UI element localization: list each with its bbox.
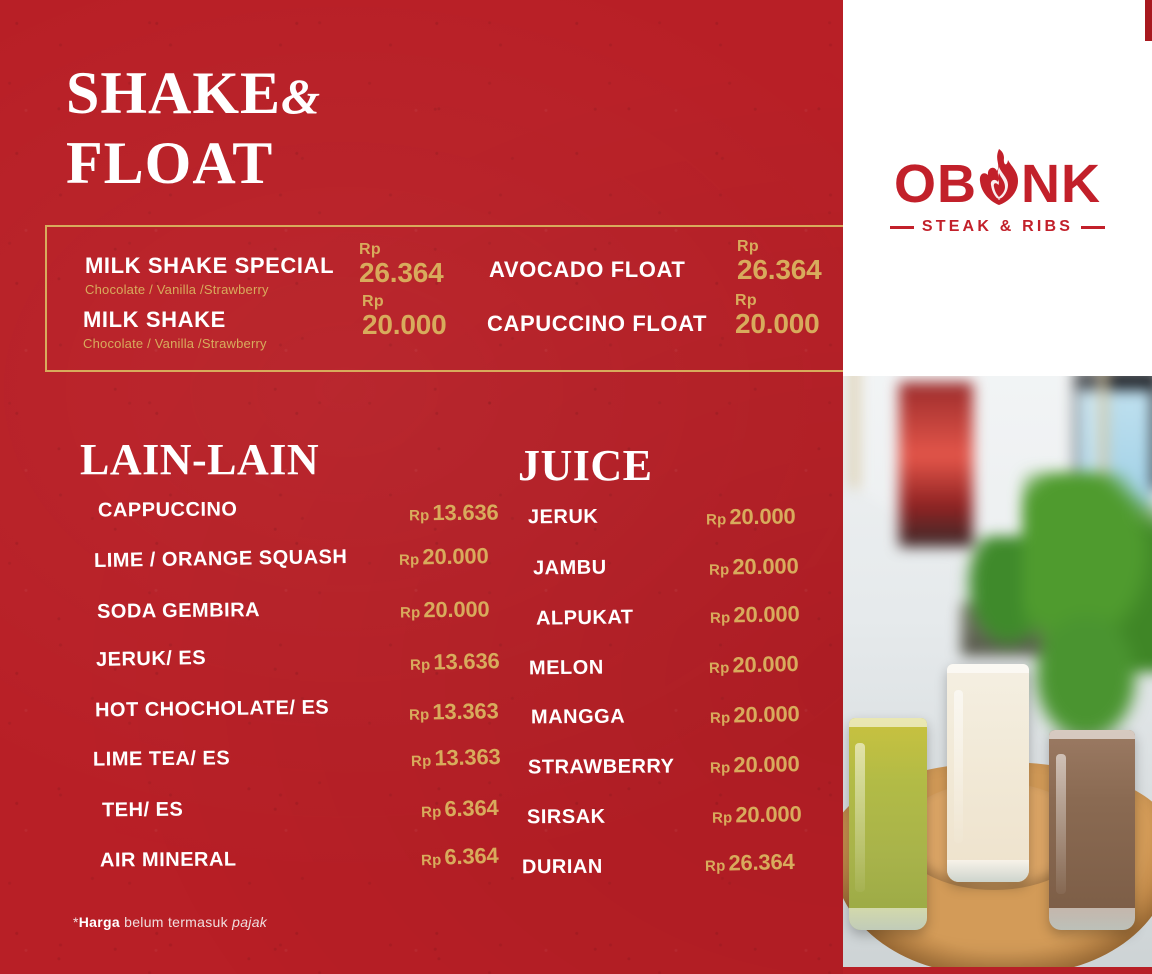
item-price: Rp13.363 xyxy=(410,746,500,770)
list-item: DURIAN Rp26.364 xyxy=(520,848,840,897)
photo-wall-art xyxy=(899,382,973,547)
menu-list-lain-lain: CAPPUCCINO Rp13.636 LIME / ORANGE SQUASH… xyxy=(90,498,500,890)
price-milk-shake: Rp 20.000 xyxy=(362,294,446,339)
tax-disclaimer: *Harga belum termasuk pajak xyxy=(73,914,267,930)
item-name: MILK SHAKE xyxy=(83,309,267,331)
currency-label: Rp xyxy=(710,609,731,626)
page-title: SHAKE& FLOAT xyxy=(66,58,320,198)
item-name: TEH/ ES xyxy=(102,800,184,821)
list-item: HOT CHOCHOLATE/ ES Rp13.363 xyxy=(90,694,500,743)
currency-label: Rp xyxy=(420,852,441,870)
item-name: MANGGA xyxy=(531,707,625,728)
section-title-juice: JUICE xyxy=(518,444,653,488)
glass-base xyxy=(849,908,927,930)
logo-word-before: OB xyxy=(894,157,977,211)
logo-rule-right xyxy=(1081,226,1105,229)
item-price: Rp20.000 xyxy=(709,555,799,578)
price-amount: 20.000 xyxy=(733,751,800,777)
list-item: LIME / ORANGE SQUASH Rp20.000 xyxy=(90,547,500,596)
currency-label: Rp xyxy=(409,657,430,674)
item-price: Rp20.000 xyxy=(712,803,802,826)
drinks-photo xyxy=(843,376,1152,974)
menu-poster: SHAKE& FLOAT OB NK xyxy=(0,0,1152,974)
logo-wordmark: OB NK xyxy=(883,156,1113,212)
price-amount: 20.000 xyxy=(733,601,800,627)
item-price: Rp20.000 xyxy=(709,653,799,677)
glass-highlight xyxy=(1056,754,1066,894)
currency-label: Rp xyxy=(408,507,429,524)
menu-item-milk-shake: MILK SHAKE Chocolate / Vanilla /Strawber… xyxy=(83,309,267,351)
shake-float-box: MILK SHAKE SPECIAL Chocolate / Vanilla /… xyxy=(45,225,897,372)
glass-rim xyxy=(849,718,927,727)
price-amount: 26.364 xyxy=(737,256,821,284)
item-name: ALPUKAT xyxy=(536,607,634,628)
glass-rim xyxy=(1049,730,1135,739)
price-amount: 13.636 xyxy=(432,500,498,526)
glass-highlight xyxy=(954,690,964,843)
price-amount: 20.000 xyxy=(422,543,489,569)
item-price: Rp13.363 xyxy=(408,700,498,723)
price-amount: 20.000 xyxy=(732,651,799,677)
item-name: DURIAN xyxy=(522,857,603,877)
photo-glass-chocolate xyxy=(1049,730,1135,930)
price-milk-shake-special: Rp 26.364 xyxy=(359,242,443,287)
price-amount: 20.000 xyxy=(733,701,800,727)
bottom-red-strip xyxy=(843,967,1152,974)
photo-glass-vanilla xyxy=(947,664,1029,882)
price-amount: 26.364 xyxy=(359,259,443,287)
item-description: Chocolate / Vanilla /Strawberry xyxy=(85,282,334,297)
list-item: SODA GEMBIRA Rp20.000 xyxy=(90,596,500,645)
list-item: ALPUKAT Rp20.000 xyxy=(520,603,840,652)
currency-label: Rp xyxy=(706,511,727,528)
section-title-lain-lain: LAIN-LAIN xyxy=(80,438,319,482)
item-name: JAMBU xyxy=(533,558,607,579)
menu-item-capuccino-float: CAPUCCINO FLOAT xyxy=(487,313,707,335)
logo-rule-left xyxy=(890,226,914,229)
item-price: Rp20.000 xyxy=(398,545,488,569)
item-price: Rp20.000 xyxy=(710,603,800,627)
item-name: LIME TEA/ ES xyxy=(93,748,230,769)
disclaimer-italic: pajak xyxy=(232,914,267,930)
glass-base xyxy=(947,860,1029,882)
item-name: HOT CHOCHOLATE/ ES xyxy=(95,698,329,721)
price-avocado-float: Rp 26.364 xyxy=(737,239,821,284)
currency-label: Rp xyxy=(710,759,731,776)
currency-label: Rp xyxy=(737,239,821,255)
list-item: JERUK Rp20.000 xyxy=(520,505,840,554)
item-price: Rp6.364 xyxy=(420,845,498,870)
currency-label: Rp xyxy=(410,753,431,770)
item-name: CAPUCCINO FLOAT xyxy=(487,313,707,335)
price-amount: 20.000 xyxy=(362,311,446,339)
item-price: Rp20.000 xyxy=(710,753,800,777)
disclaimer-mid: belum termasuk xyxy=(120,914,232,930)
currency-label: Rp xyxy=(709,561,730,578)
flame-icon xyxy=(975,156,1023,212)
currency-label: Rp xyxy=(408,706,429,723)
price-amount: 6.364 xyxy=(444,795,499,821)
price-capuccino-float: Rp 20.000 xyxy=(735,293,819,338)
list-item: STRAWBERRY Rp20.000 xyxy=(520,750,840,799)
item-price: Rp6.364 xyxy=(420,797,498,821)
page-title-line1: SHAKE xyxy=(66,60,281,126)
glass-base xyxy=(1049,908,1135,930)
logo-word-after: NK xyxy=(1021,157,1101,211)
menu-list-juice: JERUK Rp20.000 JAMBU Rp20.000 ALPUKAT Rp… xyxy=(520,505,840,897)
currency-label: Rp xyxy=(399,604,420,621)
price-amount: 13.363 xyxy=(434,744,501,771)
currency-label: Rp xyxy=(710,710,731,727)
item-name: SODA GEMBIRA xyxy=(97,600,260,622)
currency-label: Rp xyxy=(362,294,446,310)
item-name: JERUK/ ES xyxy=(96,648,206,670)
item-name: AIR MINERAL xyxy=(100,850,237,871)
list-item: MANGGA Rp20.000 xyxy=(520,701,840,750)
price-amount: 13.636 xyxy=(433,648,500,674)
page-title-line2: FLOAT xyxy=(66,128,320,198)
currency-label: Rp xyxy=(735,293,819,309)
price-amount: 13.363 xyxy=(432,698,498,724)
price-amount: 20.000 xyxy=(735,801,801,827)
currency-label: Rp xyxy=(420,804,441,822)
logo-subtitle-row: STEAK & RIBS xyxy=(883,218,1113,236)
glass-rim xyxy=(947,664,1029,673)
item-name: JERUK xyxy=(528,507,598,528)
list-item: MELON Rp20.000 xyxy=(520,652,840,701)
item-price: Rp13.636 xyxy=(408,502,498,525)
menu-item-milk-shake-special: MILK SHAKE SPECIAL Chocolate / Vanilla /… xyxy=(85,255,334,297)
menu-item-avocado-float: AVOCADO FLOAT xyxy=(489,259,685,281)
price-amount: 6.364 xyxy=(444,843,499,870)
logo-subtitle: STEAK & RIBS xyxy=(922,218,1073,236)
list-item: LIME TEA/ ES Rp13.363 xyxy=(90,743,500,792)
glass-highlight xyxy=(855,743,864,891)
ampersand-glyph: & xyxy=(281,68,320,124)
currency-label: Rp xyxy=(709,660,730,677)
list-item: TEH/ ES Rp6.364 xyxy=(90,792,500,841)
item-name: SIRSAK xyxy=(527,807,606,827)
item-name: LIME / ORANGE SQUASH xyxy=(94,547,348,571)
price-amount: 20.000 xyxy=(729,504,795,530)
list-item: AIR MINERAL Rp6.364 xyxy=(90,841,500,890)
list-item: JERUK/ ES Rp13.636 xyxy=(90,645,500,694)
item-price: Rp26.364 xyxy=(705,851,795,875)
item-price: Rp20.000 xyxy=(710,703,800,727)
photo-glass-avocado xyxy=(849,718,927,930)
item-description: Chocolate / Vanilla /Strawberry xyxy=(83,336,267,351)
item-name: AVOCADO FLOAT xyxy=(489,259,685,281)
list-item: CAPPUCCINO Rp13.636 xyxy=(90,498,500,547)
currency-label: Rp xyxy=(705,858,726,875)
item-name: MELON xyxy=(529,658,604,679)
price-amount: 20.000 xyxy=(423,596,489,622)
item-price: Rp20.000 xyxy=(399,598,489,621)
item-name: CAPPUCCINO xyxy=(98,500,238,521)
item-name: STRAWBERRY xyxy=(528,756,675,777)
brand-logo: OB NK STEAK & RIBS xyxy=(883,156,1113,236)
logo-panel: OB NK STEAK & RIBS xyxy=(843,0,1152,376)
currency-label: Rp xyxy=(359,242,443,258)
currency-label: Rp xyxy=(398,551,419,568)
item-name: MILK SHAKE SPECIAL xyxy=(85,255,334,277)
price-amount: 26.364 xyxy=(728,849,795,875)
currency-label: Rp xyxy=(712,809,733,826)
item-price: Rp13.636 xyxy=(409,650,499,674)
list-item: SIRSAK Rp20.000 xyxy=(520,799,840,848)
price-amount: 20.000 xyxy=(732,553,798,579)
list-item: JAMBU Rp20.000 xyxy=(520,554,840,603)
top-right-red-strip xyxy=(1145,0,1152,41)
item-price: Rp20.000 xyxy=(706,506,796,529)
price-amount: 20.000 xyxy=(735,310,819,338)
disclaimer-bold: Harga xyxy=(79,914,120,930)
